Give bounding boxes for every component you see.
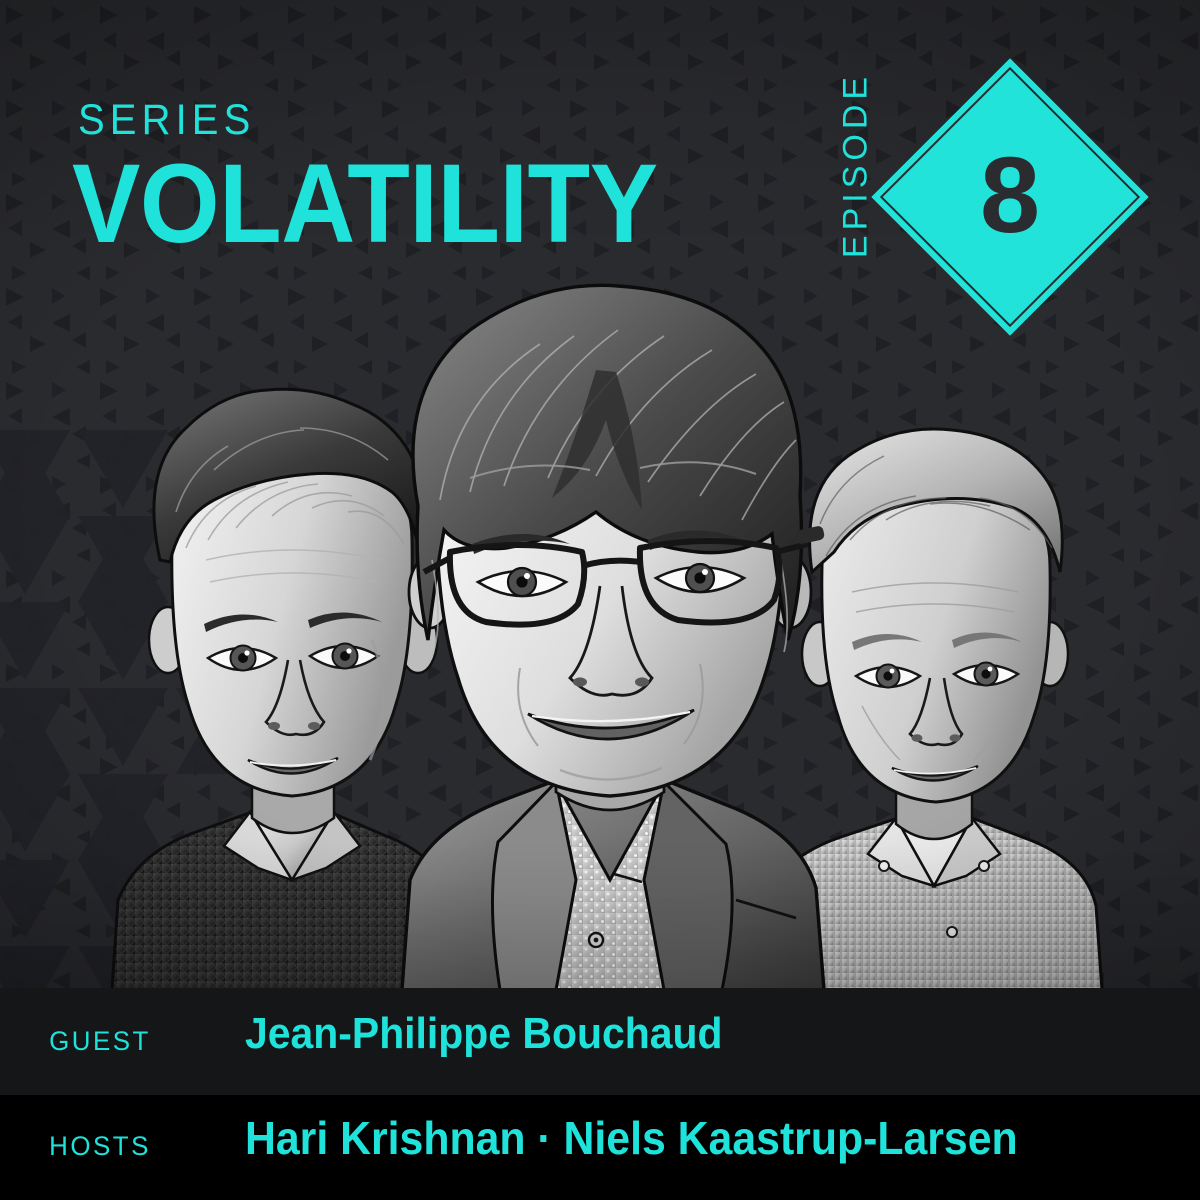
podcast-cover-art: SERIES VOLATILITY EPISODE 8 GUEST Jean-P… xyxy=(0,0,1200,1200)
hosts-credit-band: HOSTS Hari Krishnan · Niels Kaastrup-Lar… xyxy=(0,1095,1200,1200)
series-label: SERIES xyxy=(78,99,255,142)
guest-label: GUEST xyxy=(4,1028,196,1055)
episode-badge: 8 xyxy=(860,47,1160,347)
episode-number: 8 xyxy=(860,47,1160,347)
hosts-names: Hari Krishnan · Niels Kaastrup-Larsen xyxy=(245,1115,1018,1161)
guest-credit-band: GUEST Jean-Philippe Bouchaud xyxy=(0,988,1200,1095)
hosts-label: HOSTS xyxy=(4,1133,196,1160)
page-title: VOLATILITY xyxy=(72,148,658,260)
guest-name: Jean-Philippe Bouchaud xyxy=(245,1012,722,1056)
